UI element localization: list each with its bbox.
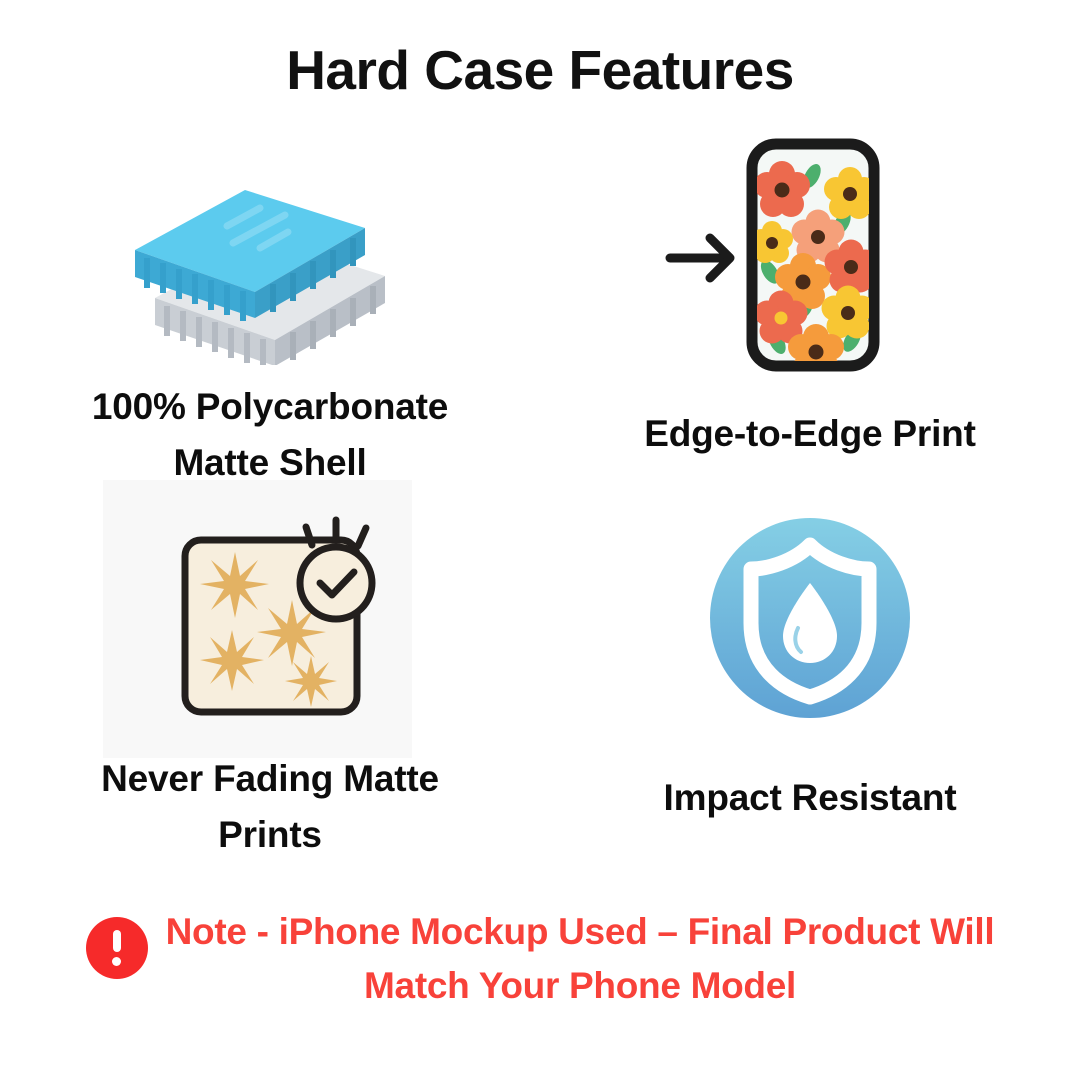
feature-label-impact-resistant: Impact Resistant xyxy=(570,770,1050,826)
feature-never-fading-prints: Never Fading Matte Prints xyxy=(30,490,510,863)
feature-label-line-1: Never Fading Matte xyxy=(30,751,510,807)
page-title: Hard Case Features xyxy=(0,38,1080,102)
exclamation-badge-icon xyxy=(86,917,148,979)
layered-slabs-icon xyxy=(30,170,510,365)
feature-label-never-fading-prints: Never Fading Matte Prints xyxy=(30,751,510,863)
feature-label-line-2: Prints xyxy=(30,807,510,863)
disclaimer-note: Note - iPhone Mockup Used – Final Produc… xyxy=(0,905,1080,1012)
disclaimer-note-text: Note - iPhone Mockup Used – Final Produc… xyxy=(166,905,995,1012)
feature-label-line-2: Matte Shell xyxy=(30,435,510,491)
arrow-right-icon xyxy=(670,238,730,278)
shield-droplet-icon xyxy=(570,505,1050,740)
feature-label-line-1: Impact Resistant xyxy=(570,770,1050,826)
floral-phone-case-icon xyxy=(570,130,1050,380)
feature-label-line-1: Edge-to-Edge Print xyxy=(570,406,1050,462)
feature-edge-to-edge-print: Edge-to-Edge Print xyxy=(570,130,1050,462)
infographic-page: Hard Case Features xyxy=(0,0,1080,1080)
feature-polycarbonate-shell: 100% Polycarbonate Matte Shell xyxy=(30,170,510,491)
sparkle-check-icon xyxy=(30,490,510,735)
feature-label-polycarbonate-shell: 100% Polycarbonate Matte Shell xyxy=(30,379,510,491)
feature-label-edge-to-edge-print: Edge-to-Edge Print xyxy=(570,406,1050,462)
feature-impact-resistant: Impact Resistant xyxy=(570,505,1050,826)
disclaimer-line-1: Note - iPhone Mockup Used – Final Produc… xyxy=(166,905,995,959)
feature-label-line-1: 100% Polycarbonate xyxy=(30,379,510,435)
disclaimer-line-2: Match Your Phone Model xyxy=(166,959,995,1013)
